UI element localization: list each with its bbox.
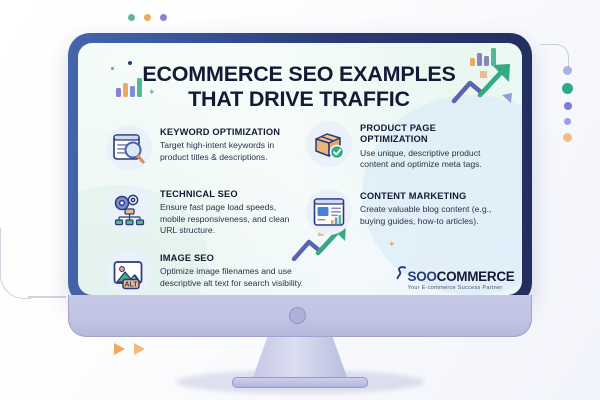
dot-green (128, 14, 135, 21)
bar-chart-icon-left (116, 77, 142, 97)
feature-content-marketing: Content Marketing Create valuable blog c… (306, 189, 506, 235)
gears-sitemap-icon (106, 187, 152, 233)
deco-dot-a (111, 67, 114, 70)
feature-heading: Content Marketing (360, 191, 506, 202)
feature-body: Target high-intent keywords in product t… (160, 140, 296, 163)
logo-tagline: Your E-commerce Success Partner (390, 285, 520, 291)
feature-body: Optimize image filenames and use descrip… (160, 266, 306, 289)
feature-heading: Image SEO (160, 253, 306, 264)
dot-orange (144, 14, 151, 21)
top-dot-cluster (128, 14, 167, 21)
package-box-check-icon (306, 121, 352, 167)
magnifier-document-icon (106, 125, 152, 171)
dot-purple (160, 14, 167, 21)
svg-text:ALT: ALT (124, 281, 138, 288)
play-arrow-pair (114, 343, 145, 355)
right-dot-rail (562, 66, 573, 142)
growth-arrow-icon-top (450, 61, 516, 109)
logo-name-bold: COMMERCE (437, 269, 515, 284)
feature-body: Ensure fast page load speeds, mobile res… (160, 202, 296, 236)
article-chart-icon (306, 189, 352, 235)
bar-chart-icon-right (470, 48, 496, 66)
left-rail-line (0, 228, 31, 299)
feature-keyword-optimization: Keyword Optimization Target high-intent … (106, 125, 296, 171)
feature-body: Create valuable blog content (e.g., buyi… (360, 204, 506, 227)
rail-dot-3 (564, 102, 572, 110)
feature-technical-seo: Technical SEO Ensure fast page load spee… (106, 187, 296, 237)
page-title: Ecommerce SEO Examples That Drive Traffi… (124, 62, 474, 112)
image-alt-tag-icon: ALT (106, 251, 152, 295)
monitor-camera-dot (289, 307, 306, 324)
rail-dot-5 (563, 133, 572, 142)
left-rail-stub (28, 296, 66, 298)
play-arrow-icon-2 (134, 343, 145, 355)
feature-body: Use unique, descriptive product content … (360, 148, 506, 171)
monitor-screen: Ecommerce SEO Examples That Drive Traffi… (78, 43, 522, 295)
infographic-scene: Ecommerce SEO Examples That Drive Traffi… (0, 0, 600, 400)
monitor-stand-base (232, 377, 368, 388)
title-line-1: Ecommerce SEO Examples (124, 62, 474, 87)
monitor-stand-neck (252, 337, 348, 380)
deco-sparkle-b: ✦ (388, 239, 396, 250)
monitor-frame: Ecommerce SEO Examples That Drive Traffi… (68, 33, 532, 305)
feature-heading: Product Page Optimization (360, 123, 506, 146)
rail-dot-2 (562, 83, 573, 94)
feature-image-seo: ALT Image SEO Optimize image filenames a… (106, 251, 306, 295)
logo-name-light: SOO (408, 269, 437, 284)
title-line-2: That Drive Traffic (124, 87, 474, 112)
feature-product-page-optimization: Product Page Optimization Use unique, de… (306, 121, 506, 171)
feature-heading: Keyword Optimization (160, 127, 296, 138)
rail-dot-4 (564, 118, 571, 125)
brand-logo: SOO COMMERCE Your E-commerce Success Par… (390, 265, 520, 291)
feature-heading: Technical SEO (160, 189, 296, 200)
rail-dot-1 (563, 66, 572, 75)
deco-sparkle-a: ✦ (148, 87, 156, 98)
logo-swoosh-icon (396, 265, 407, 281)
play-arrow-icon-1 (114, 343, 125, 355)
deco-dot-b (128, 61, 132, 65)
